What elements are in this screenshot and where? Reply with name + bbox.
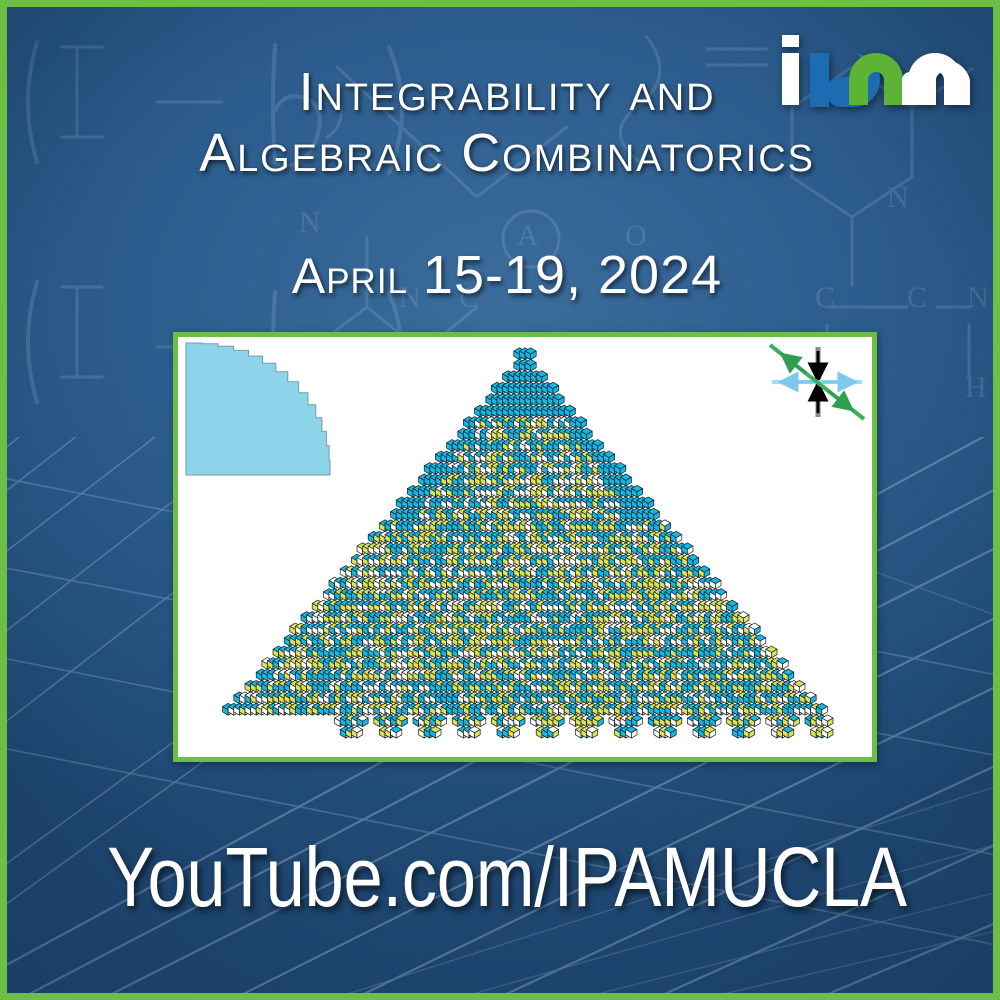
poster-root: H N N C A O N C C N H H: [0, 0, 1000, 1000]
axis-direction-glyph: [766, 343, 866, 421]
event-date: April 15-19, 2024: [7, 244, 1000, 306]
arctic-region-inset: [184, 341, 354, 481]
ipam-logo[interactable]: [780, 25, 970, 107]
figure-canvas: [178, 337, 872, 757]
figure-frame: [173, 332, 877, 762]
date-prefix: April: [292, 248, 423, 304]
date-value: 15-19, 2024: [423, 245, 722, 305]
youtube-url[interactable]: YouTube.com/IPAMUCLA: [87, 829, 927, 926]
